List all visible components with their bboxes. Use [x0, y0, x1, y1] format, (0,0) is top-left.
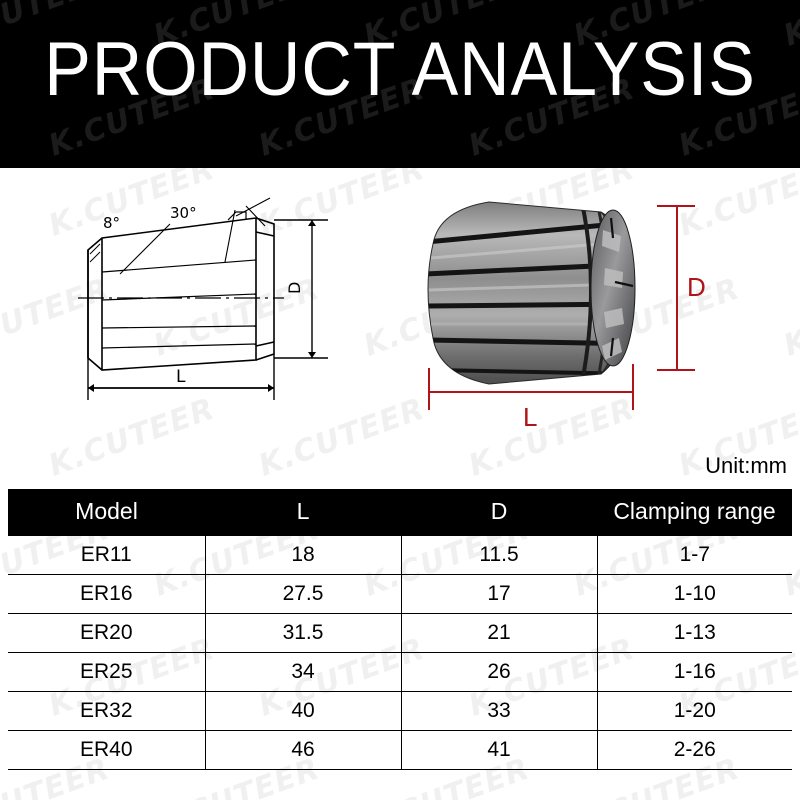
table-row: ER32 40 33 1-20 [8, 691, 792, 730]
photo-dimension-label-d: D [687, 272, 706, 302]
cell-model: ER11 [8, 535, 205, 574]
column-header-l: L [205, 489, 401, 535]
table-row: ER16 27.5 17 1-10 [8, 574, 792, 613]
angle-label-8deg: 8° [103, 214, 120, 232]
cell-range: 1-13 [597, 613, 792, 652]
table-row: ER11 18 11.5 1-7 [8, 535, 792, 574]
table-header-row: Model L D Clamping range [8, 489, 792, 535]
cell-l: 40 [205, 691, 401, 730]
column-header-range: Clamping range [597, 489, 792, 535]
unit-label: Unit:mm [705, 453, 787, 479]
cell-d: 21 [401, 613, 597, 652]
photo-dimension-label-l: L [523, 402, 537, 428]
table-row: ER25 34 26 1-16 [8, 652, 792, 691]
table-row: ER20 31.5 21 1-13 [8, 613, 792, 652]
drawing-dimension-label-d: D [285, 282, 304, 294]
cell-range: 1-7 [597, 535, 792, 574]
collet-photo: D L [405, 178, 715, 428]
cell-model: ER20 [8, 613, 205, 652]
watermark-text: K.CUTEER [779, 0, 800, 54]
cell-d: 26 [401, 652, 597, 691]
cell-range: 2-26 [597, 730, 792, 769]
cell-d: 41 [401, 730, 597, 769]
cell-model: ER32 [8, 691, 205, 730]
collet-line-drawing: 8° 30° D L [60, 188, 350, 418]
cell-d: 33 [401, 691, 597, 730]
angle-label-30deg: 30° [170, 204, 197, 222]
drawing-dimension-label-l: L [176, 367, 186, 387]
cell-model: ER16 [8, 574, 205, 613]
cell-d: 11.5 [401, 535, 597, 574]
column-header-d: D [401, 489, 597, 535]
cell-range: 1-20 [597, 691, 792, 730]
cell-l: 34 [205, 652, 401, 691]
cell-l: 18 [205, 535, 401, 574]
cell-model: ER40 [8, 730, 205, 769]
illustration-band: 8° 30° D L [0, 168, 800, 488]
column-header-model: Model [8, 489, 205, 535]
cell-d: 17 [401, 574, 597, 613]
cell-range: 1-10 [597, 574, 792, 613]
cell-l: 27.5 [205, 574, 401, 613]
cell-l: 46 [205, 730, 401, 769]
table-row: ER40 46 41 2-26 [8, 730, 792, 769]
cell-l: 31.5 [205, 613, 401, 652]
cell-range: 1-16 [597, 652, 792, 691]
product-analysis-page: K.CUTEERK.CUTEERK.CUTEERK.CUTEERK.CUTEER… [0, 0, 800, 800]
specification-table: Model L D Clamping range ER11 18 11.5 1-… [8, 489, 792, 770]
cell-model: ER25 [8, 652, 205, 691]
page-title: PRODUCT ANALYSIS [32, 30, 768, 110]
header-banner: K.CUTEERK.CUTEERK.CUTEERK.CUTEERK.CUTEER… [0, 0, 800, 168]
